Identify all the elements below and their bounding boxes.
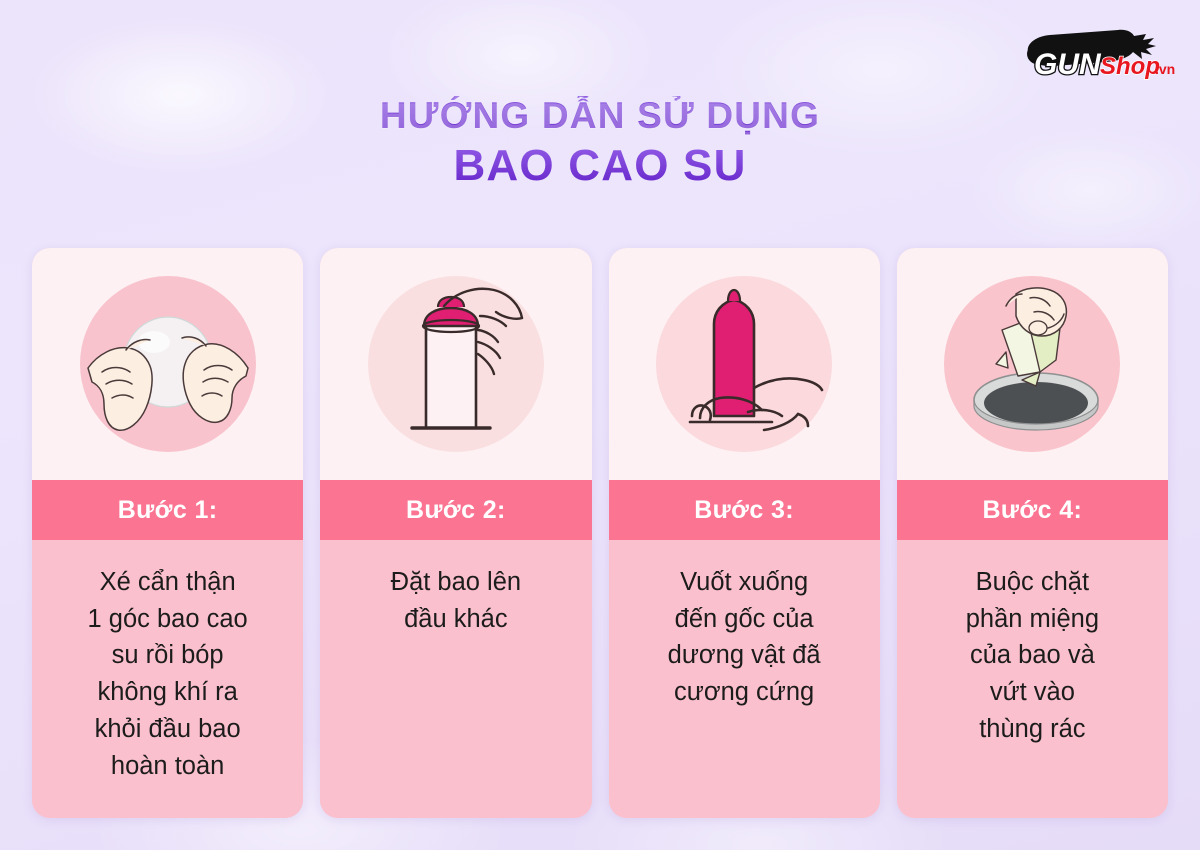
step-card-1[interactable]: Bước 1: Xé cẩn thận 1 góc bao cao su rồi… (32, 248, 303, 818)
infographic-page: GUN Shop .vn HƯỚNG DẪN SỬ DỤNG BAO CAO S… (0, 0, 1200, 850)
two-hands-tearing-package-icon (80, 276, 256, 452)
logo-word-shop: Shop (1100, 53, 1160, 80)
step-4-band: Bước 4: (897, 480, 1168, 540)
step-card-2[interactable]: Bước 2: Đặt bao lên đầu khác (320, 248, 591, 818)
steps-container: Bước 1: Xé cẩn thận 1 góc bao cao su rồi… (32, 248, 1168, 818)
page-header: HƯỚNG DẪN SỬ DỤNG BAO CAO SU (0, 96, 1200, 189)
step-4-label: Bước 4: (982, 496, 1082, 525)
step-4-text: Buộc chặt phần miệng của bao và vứt vào … (911, 564, 1154, 748)
step-1-band: Bước 1: (32, 480, 303, 540)
step-2-illustration-area (320, 248, 591, 480)
hand-dropping-into-trash-icon (944, 276, 1120, 452)
step-3-body: Vuốt xuống đến gốc của dương vật đã cươn… (609, 540, 880, 818)
step-1-illustration-area (32, 248, 303, 480)
hand-placing-condom-on-tip-icon (368, 276, 544, 452)
logo-word-vn: .vn (1155, 61, 1175, 77)
step-card-3[interactable]: Bước 3: Vuốt xuống đến gốc của dương vật… (609, 248, 880, 818)
step-3-text: Vuốt xuống đến gốc của dương vật đã cươn… (623, 564, 866, 711)
step-4-illustration-area (897, 248, 1168, 480)
step-3-band: Bước 3: (609, 480, 880, 540)
step-1-body: Xé cẩn thận 1 góc bao cao su rồi bóp khô… (32, 540, 303, 818)
step-2-label: Bước 2: (406, 496, 506, 525)
step-3-illustration-area (609, 248, 880, 480)
step-4-body: Buộc chặt phần miệng của bao và vứt vào … (897, 540, 1168, 818)
step-2-text: Đặt bao lên đầu khác (334, 564, 577, 637)
logo-word-gun: GUN (1034, 48, 1102, 81)
hand-rolling-condom-down-icon (656, 276, 832, 452)
step-1-label: Bước 1: (118, 496, 218, 525)
step-card-4[interactable]: Bước 4: Buộc chặt phần miệng của bao và … (897, 248, 1168, 818)
step-1-text: Xé cẩn thận 1 góc bao cao su rồi bóp khô… (46, 564, 289, 784)
step-3-label: Bước 3: (694, 496, 794, 525)
page-title-line1: HƯỚNG DẪN SỬ DỤNG (0, 96, 1200, 136)
gunshop-logo[interactable]: GUN Shop .vn (1014, 18, 1182, 84)
page-title-line2: BAO CAO SU (0, 142, 1200, 190)
step-2-band: Bước 2: (320, 480, 591, 540)
step-2-body: Đặt bao lên đầu khác (320, 540, 591, 818)
